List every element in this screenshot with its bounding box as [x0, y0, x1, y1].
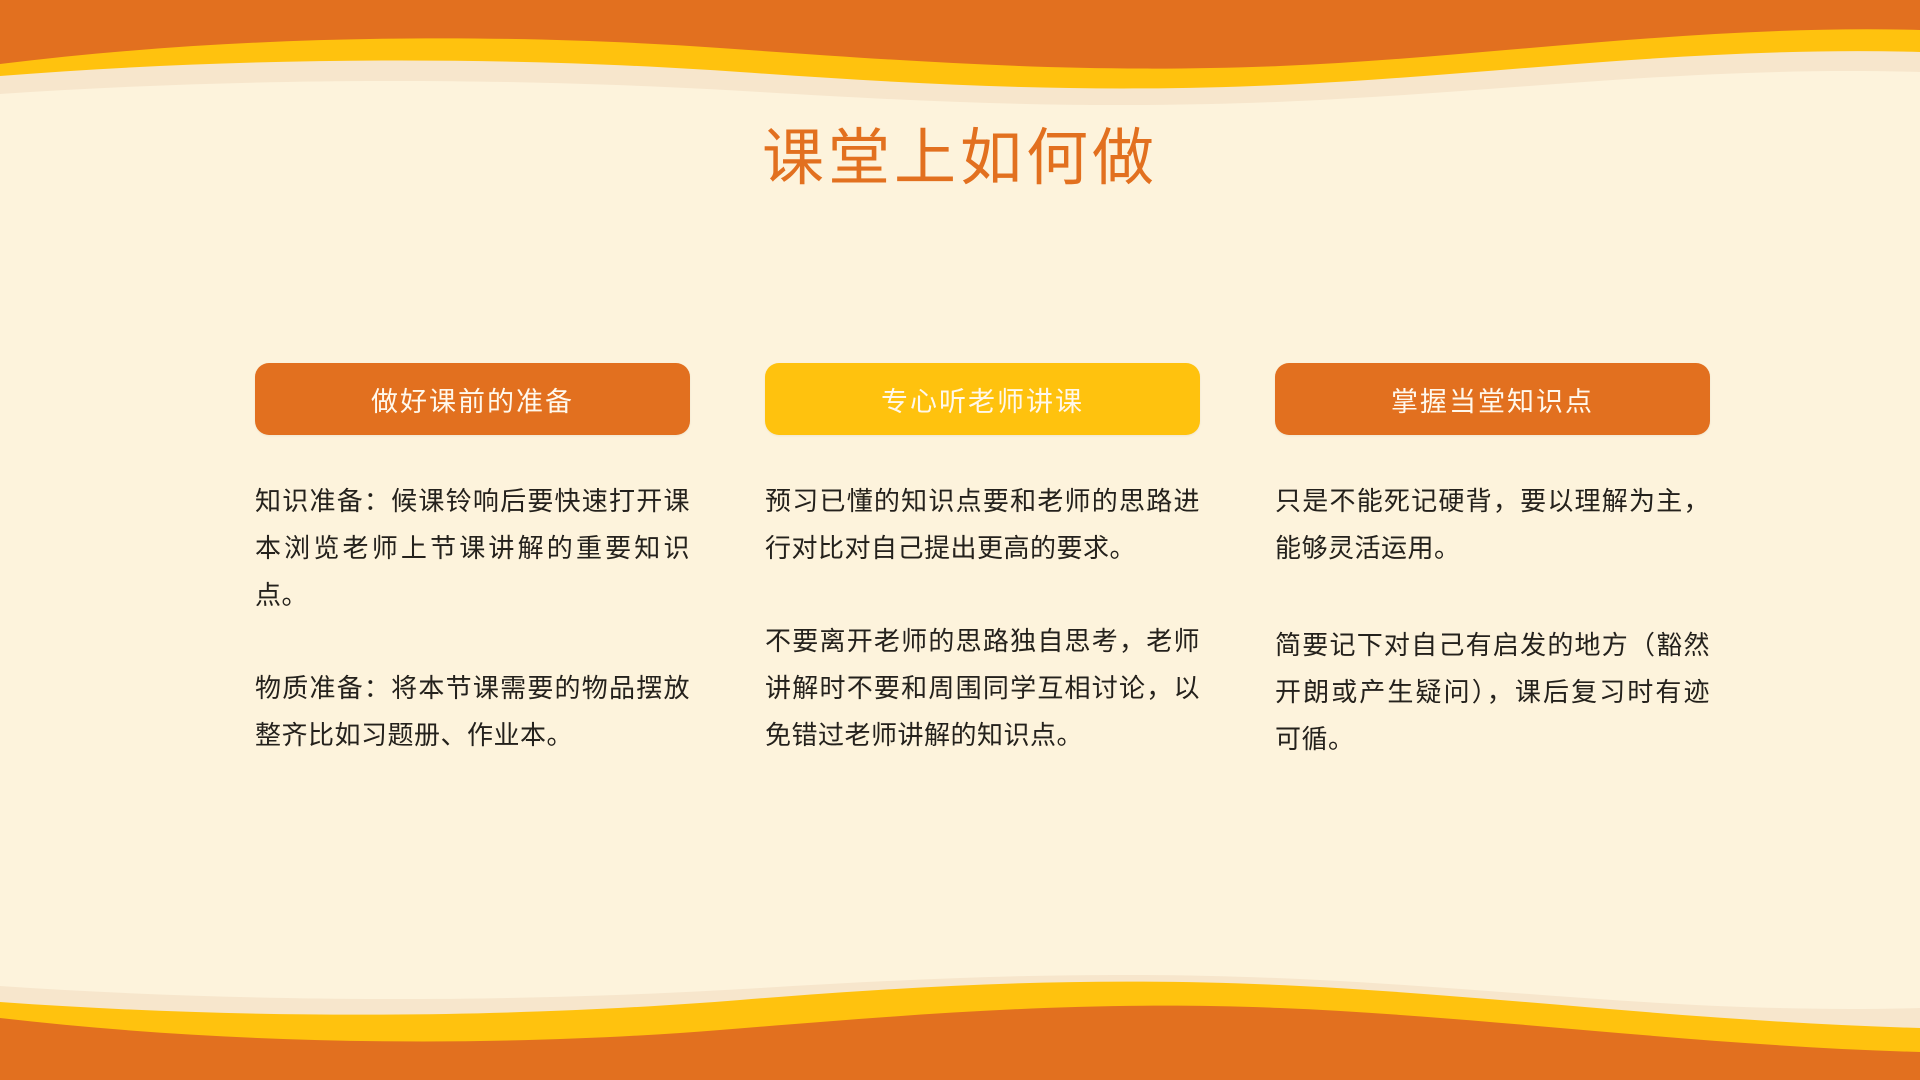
- wave-bottom-yellow-layer: [0, 982, 1920, 1080]
- wave-bottom-decoration: [0, 960, 1920, 1080]
- column-body-1: 知识准备：候课铃响后要快速打开课本浏览老师上节课讲解的重要知识点。 物质准备：将…: [255, 478, 690, 759]
- content-columns: 做好课前的准备 知识准备：候课铃响后要快速打开课本浏览老师上节课讲解的重要知识点…: [255, 363, 1710, 763]
- column-heading-pill-3[interactable]: 掌握当堂知识点: [1275, 363, 1710, 435]
- wave-top-yellow-layer: [0, 0, 1920, 88]
- paragraph: 不要离开老师的思路独自思考，老师讲解时不要和周围同学互相讨论，以免错过老师讲解的…: [765, 618, 1200, 759]
- wave-top-cream-layer: [0, 0, 1920, 105]
- wave-top-decoration: [0, 0, 1920, 120]
- column-heading-pill-2[interactable]: 专心听老师讲课: [765, 363, 1200, 435]
- column-heading-pill-1[interactable]: 做好课前的准备: [255, 363, 690, 435]
- paragraph: 简要记下对自己有启发的地方（豁然开朗或产生疑问），课后复习时有迹可循。: [1275, 622, 1710, 763]
- wave-bottom-orange-layer: [0, 1006, 1920, 1080]
- paragraph: 预习已懂的知识点要和老师的思路进行对比对自己提出更高的要求。: [765, 478, 1200, 572]
- wave-top-orange-layer: [0, 0, 1920, 69]
- column-body-3: 只是不能死记硬背，要以理解为主，能够灵活运用。 简要记下对自己有启发的地方（豁然…: [1275, 478, 1710, 763]
- slide-root: 课堂上如何做 做好课前的准备 知识准备：候课铃响后要快速打开课本浏览老师上节课讲…: [0, 0, 1920, 1080]
- column-master-knowledge-points: 掌握当堂知识点 只是不能死记硬背，要以理解为主，能够灵活运用。 简要记下对自己有…: [1275, 363, 1710, 763]
- paragraph: 物质准备：将本节课需要的物品摆放整齐比如习题册、作业本。: [255, 665, 690, 759]
- wave-bottom-cream-layer: [0, 975, 1920, 1080]
- paragraph: 只是不能死记硬背，要以理解为主，能够灵活运用。: [1275, 478, 1710, 572]
- page-title: 课堂上如何做: [0, 122, 1920, 196]
- column-listen-attentively: 专心听老师讲课 预习已懂的知识点要和老师的思路进行对比对自己提出更高的要求。 不…: [765, 363, 1200, 759]
- column-prepare-before-class: 做好课前的准备 知识准备：候课铃响后要快速打开课本浏览老师上节课讲解的重要知识点…: [255, 363, 690, 759]
- column-body-2: 预习已懂的知识点要和老师的思路进行对比对自己提出更高的要求。 不要离开老师的思路…: [765, 478, 1200, 759]
- paragraph: 知识准备：候课铃响后要快速打开课本浏览老师上节课讲解的重要知识点。: [255, 478, 690, 619]
